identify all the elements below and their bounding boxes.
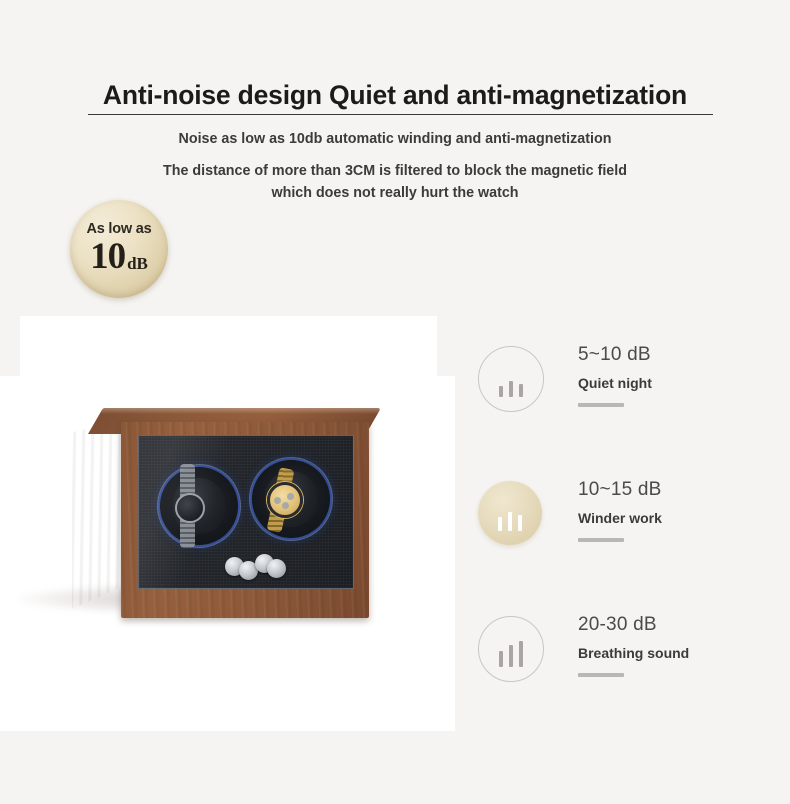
product-infographic: Anti-noise design Quiet and anti-magneti… bbox=[0, 0, 790, 804]
noise-level-label: Winder work bbox=[578, 510, 662, 526]
noise-level-text: 20-30 dB Breathing sound bbox=[578, 614, 689, 677]
sound-bar bbox=[499, 386, 503, 397]
noise-level-item-breathing-sound: 20-30 dB Breathing sound bbox=[478, 610, 778, 745]
noise-level-label: Quiet night bbox=[578, 375, 652, 391]
sound-bar bbox=[519, 641, 523, 667]
sound-bars-group bbox=[499, 633, 523, 681]
product-image-watch-winder bbox=[72, 408, 392, 658]
noise-badge: As low as 10 dB bbox=[70, 200, 168, 298]
noise-level-text: 10~15 dB Winder work bbox=[578, 479, 662, 542]
sound-bars-icon bbox=[478, 346, 544, 412]
subtitle-secondary-line-1: The distance of more than 3CM is filtere… bbox=[0, 160, 790, 182]
badge-value: 10 bbox=[90, 238, 125, 275]
noise-level-label: Breathing sound bbox=[578, 645, 689, 661]
label-underline bbox=[578, 538, 624, 542]
label-underline bbox=[578, 403, 624, 407]
sound-bar bbox=[509, 381, 513, 397]
sound-bars-group bbox=[498, 497, 522, 545]
sound-bars-group bbox=[499, 363, 523, 411]
noise-level-item-quiet-night: 5~10 dB Quiet night bbox=[478, 340, 778, 475]
noise-level-range: 10~15 dB bbox=[578, 479, 662, 501]
watch-subdial-right bbox=[287, 493, 294, 500]
winder-glass-door bbox=[138, 435, 354, 589]
badge-unit: dB bbox=[127, 255, 148, 272]
sound-bars-icon bbox=[478, 481, 542, 545]
noise-level-range: 20-30 dB bbox=[578, 614, 689, 636]
watch-holder-right bbox=[252, 460, 330, 538]
top-panel-highlight bbox=[100, 408, 381, 414]
sound-bar bbox=[518, 515, 522, 531]
noise-level-list: 5~10 dB Quiet night 10~15 dB Winder work bbox=[478, 340, 778, 745]
sound-bar bbox=[519, 384, 523, 397]
label-underline bbox=[578, 673, 624, 677]
noise-level-item-winder-work: 10~15 dB Winder work bbox=[478, 475, 778, 610]
sound-bar bbox=[508, 512, 512, 531]
sound-bar bbox=[509, 645, 513, 667]
sound-bars-icon bbox=[478, 616, 544, 682]
sound-bar bbox=[499, 651, 503, 667]
subtitle-primary: Noise as low as 10db automatic winding a… bbox=[0, 131, 790, 147]
watch-subdial-bottom bbox=[282, 502, 289, 509]
sound-bar bbox=[498, 517, 502, 531]
watch-subdial-left bbox=[274, 497, 281, 504]
noise-level-text: 5~10 dB Quiet night bbox=[578, 344, 652, 407]
subtitle-secondary: The distance of more than 3CM is filtere… bbox=[0, 160, 790, 204]
title-underline-rule bbox=[88, 114, 713, 115]
winder-front-frame bbox=[121, 422, 369, 618]
watch-gold-face bbox=[267, 482, 303, 518]
page-title: Anti-noise design Quiet and anti-magneti… bbox=[0, 80, 790, 111]
control-knob bbox=[267, 559, 286, 578]
product-panel-upper bbox=[20, 316, 437, 377]
badge-value-group: 10 dB bbox=[90, 238, 148, 275]
noise-level-range: 5~10 dB bbox=[578, 344, 652, 366]
badge-caption: As low as bbox=[86, 221, 151, 237]
